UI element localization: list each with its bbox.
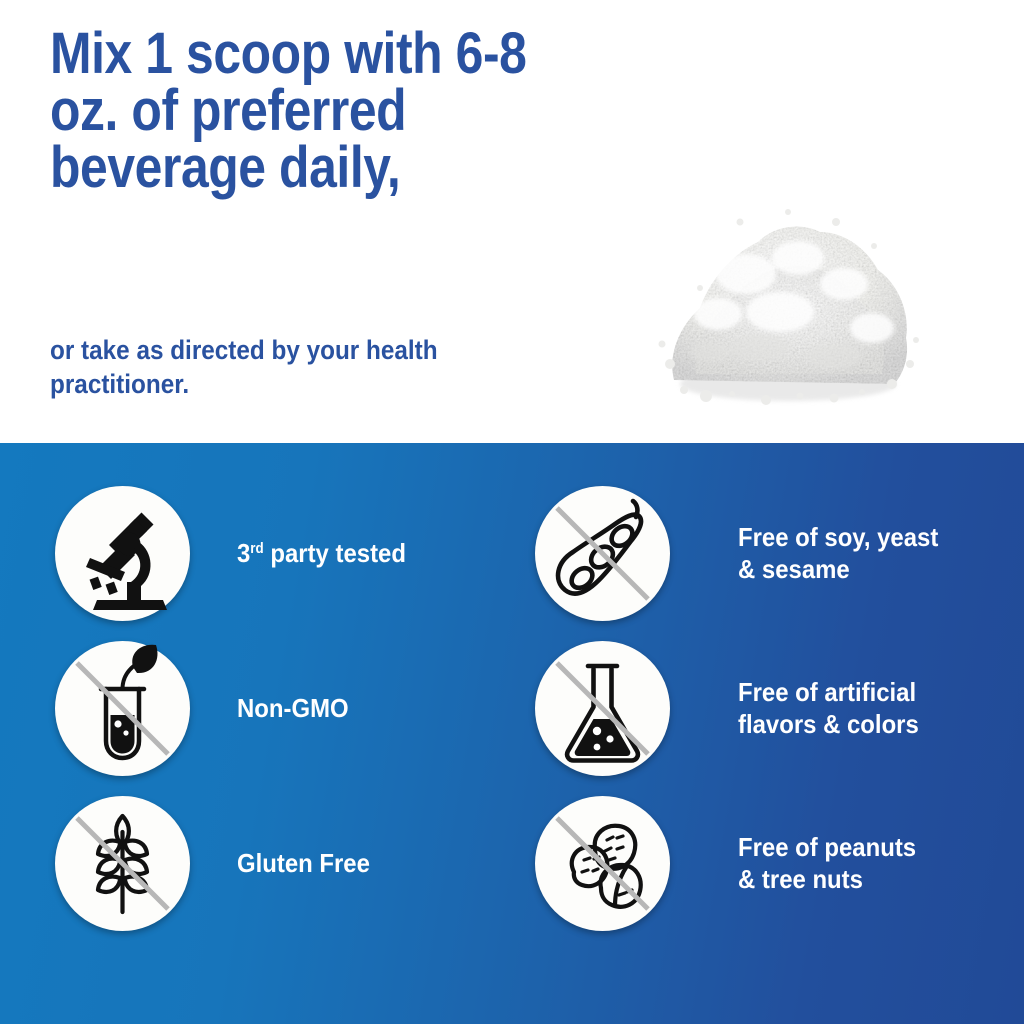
soybean-pod-icon xyxy=(535,486,670,621)
feature-label: Free of soy, yeast& sesame xyxy=(738,522,938,585)
infographic-canvas: Mix 1 scoop with 6-8 oz. of preferred be… xyxy=(0,0,1024,1024)
feature-label: Free of peanuts& tree nuts xyxy=(738,832,916,895)
features-panel: 3rd party tested xyxy=(0,443,1024,1024)
peanuts-icon xyxy=(535,796,670,931)
feature-badge-free-of-soy: Free of soy, yeast& sesame xyxy=(535,486,985,621)
feature-badge-3rd-party-tested: 3rd party tested xyxy=(55,486,485,621)
feature-badge-gluten-free: Gluten Free xyxy=(55,796,485,931)
feature-badge-free-of-peanuts: Free of peanuts& tree nuts xyxy=(535,796,985,931)
test-tube-leaf-icon xyxy=(55,641,190,776)
page-title: Mix 1 scoop with 6-8 oz. of preferred be… xyxy=(50,26,583,196)
header-panel: Mix 1 scoop with 6-8 oz. of preferred be… xyxy=(0,0,1024,443)
supplement-powder-image xyxy=(648,188,928,420)
subtitle-text: or take as directed by your health pract… xyxy=(50,334,482,402)
feature-label: Gluten Free xyxy=(237,848,370,880)
feature-label: Free of artificialflavors & colors xyxy=(738,677,919,740)
feature-badge-non-gmo: Non-GMO xyxy=(55,641,485,776)
erlenmeyer-flask-icon xyxy=(535,641,670,776)
microscope-icon xyxy=(55,486,190,621)
feature-label: Non-GMO xyxy=(237,693,349,725)
feature-badge-free-of-artificial: Free of artificialflavors & colors xyxy=(535,641,985,776)
wheat-stalk-icon xyxy=(55,796,190,931)
feature-label: 3rd party tested xyxy=(237,538,406,570)
